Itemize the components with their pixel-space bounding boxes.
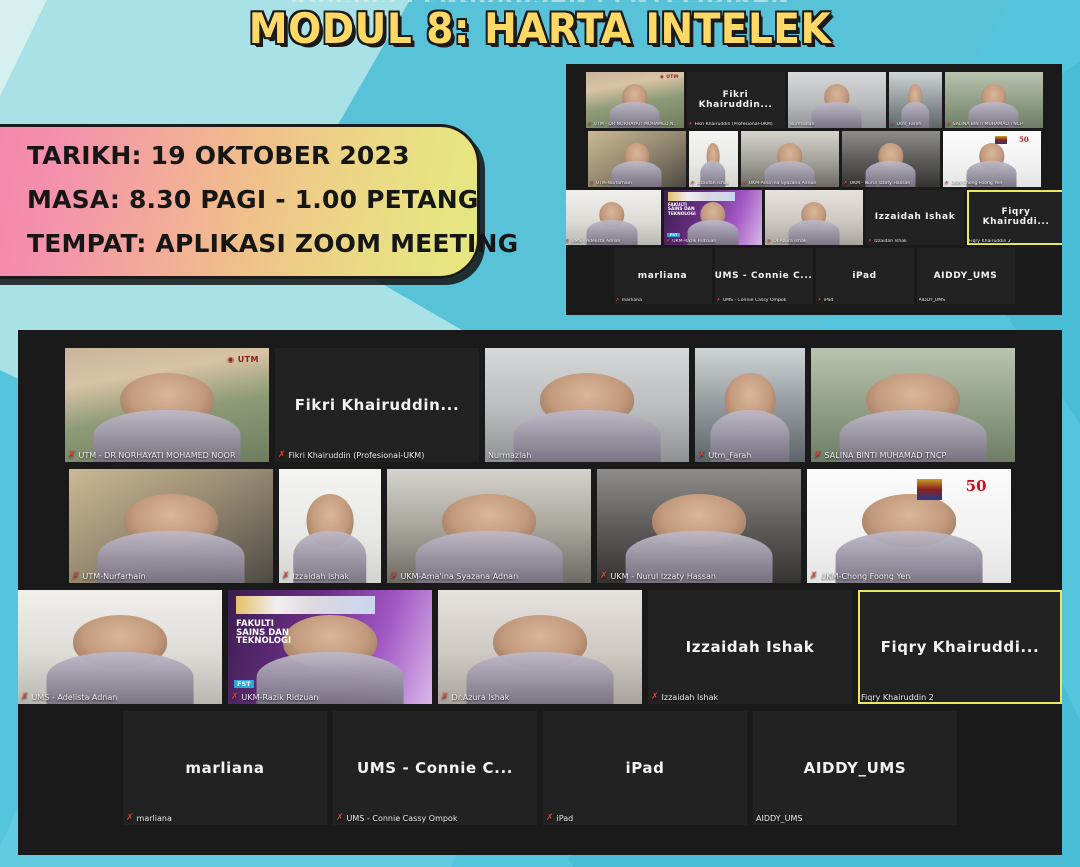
zoom-grid-row: ◉ UTM✗UTM - DR NORHAYATI MOHAMED NOORFik… <box>40 348 1040 462</box>
video-scene <box>588 131 686 187</box>
participant-tile[interactable]: Nurmazlah <box>485 348 689 462</box>
participant-name-text: UTM-Nurfarhain <box>83 572 146 581</box>
faculty-banner-text: FAKULTISAINS DANTEKNOLOGI <box>668 204 696 218</box>
participant-name-badge: ✗Fikri Khairuddin (Profesional-UKM) <box>275 450 428 462</box>
mic-muted-icon: ✗ <box>68 451 76 460</box>
participant-name-badge: ✗Dr.Azura Ishak <box>438 692 513 704</box>
video-scene: 50 <box>807 469 1011 583</box>
ukm-crest-icon <box>917 479 941 500</box>
video-scene <box>69 469 273 583</box>
mic-muted-icon: ✗ <box>126 814 134 823</box>
participant-name-text: UTM - DR NORHAYATI MOHAMED NOOR <box>594 122 682 127</box>
participant-video <box>945 72 1043 128</box>
participant-center-name: iPad <box>816 248 914 304</box>
mic-muted-icon: ✗ <box>814 451 822 460</box>
zoom-gallery-window-small: ◉ UTM✗UTM - DR NORHAYATI MOHAMED NOORFik… <box>566 64 1062 315</box>
video-scene <box>438 590 642 704</box>
mic-muted-icon: ✗ <box>278 451 286 460</box>
person-shoulders <box>811 102 862 128</box>
participant-tile[interactable]: ✗Izzaidah Ishak <box>689 131 738 187</box>
mic-muted-icon: ✗ <box>891 122 895 127</box>
video-scene <box>788 72 886 128</box>
participant-tile[interactable]: 50✗UKM-Chong Foong Yen <box>943 131 1041 187</box>
participant-tile[interactable]: iPad✗iPad <box>543 711 747 825</box>
participant-name-badge: ✗marliana <box>614 298 644 304</box>
mic-muted-icon: ✗ <box>441 693 449 702</box>
participant-name-text: Izzaidah Ishak <box>874 239 907 244</box>
video-scene <box>597 469 801 583</box>
video-scene <box>765 190 863 246</box>
participant-tile[interactable]: Izzaidah Ishak✗Izzaidah Ishak <box>648 590 852 704</box>
participant-name-text: UKM-Ama'ina Syazana Adnan <box>401 572 519 581</box>
mic-muted-icon: ✗ <box>689 122 693 127</box>
participant-tile[interactable]: Nurmazlah <box>788 72 886 128</box>
ukm-50th-anniversary-icon: 50 <box>966 477 987 495</box>
ukm-crest-icon <box>995 136 1007 144</box>
mic-muted-icon: ✗ <box>282 572 290 581</box>
participant-tile[interactable]: ✗Utm_Farah <box>695 348 805 462</box>
participant-center-name: iPad <box>543 711 747 825</box>
participant-center-name: Fikri Khairuddin... <box>275 348 479 462</box>
participant-video: ◉ UTM <box>65 348 269 462</box>
mic-muted-icon: ✗ <box>698 451 706 460</box>
participant-tile[interactable]: ✗Utm_Farah <box>889 72 942 128</box>
participant-name-text: Fiqry Khairuddin 2 <box>969 239 1011 244</box>
event-details-card: TARIKH: 19 OKTOBER 2023 MASA: 8.30 PAGI … <box>0 124 480 279</box>
participant-center-name: Fiqry Khairuddi... <box>858 590 1062 704</box>
participant-tile[interactable]: ◉ UTM✗UTM - DR NORHAYATI MOHAMED NOOR <box>586 72 684 128</box>
participant-name-badge: ✗UMS - Connie Cassy Ompok <box>333 813 461 825</box>
participant-video: 50 <box>807 469 1011 583</box>
zoom-grid-row: ✗UMS - Adelista AdnanFAKULTISAINS DANTEK… <box>40 590 1040 704</box>
participant-video <box>741 131 839 187</box>
participant-name-badge: ✗UTM - DR NORHAYATI MOHAMED NOOR <box>65 450 240 462</box>
mic-muted-icon: ✗ <box>546 814 554 823</box>
participant-name-text: Fikri Khairuddin (Profesional-UKM) <box>695 122 773 127</box>
participant-video: FAKULTISAINS DANTEKNOLOGIFST <box>228 590 432 704</box>
participant-video <box>689 131 738 187</box>
participant-tile[interactable]: UMS - Connie C...✗UMS - Connie Cassy Omp… <box>333 711 537 825</box>
participant-name-text: AIDDY_UMS <box>919 298 946 303</box>
utm-logo-icon: ◉ UTM <box>660 75 679 80</box>
participant-name-text: UMS - Connie Cassy Ompok <box>347 814 458 823</box>
person-shoulders <box>514 410 661 462</box>
participant-tile[interactable]: Fiqry Khairuddi...Fiqry Khairuddin 2 <box>858 590 1062 704</box>
faculty-banner-logos <box>236 596 375 614</box>
video-scene: ◉ UTM <box>586 72 684 128</box>
participant-center-name: marliana <box>614 248 712 304</box>
page-title: MODUL 8: HARTA INTELEK <box>38 6 1042 52</box>
mic-muted-icon: ✗ <box>767 239 771 244</box>
participant-name-badge: ✗UKM-Ama'ina Syazana Adnan <box>741 181 819 187</box>
mic-muted-icon: ✗ <box>616 298 620 303</box>
poster-canvas: KURSUS PENGURUSAN PENYELIDIKAN MODUL 8: … <box>0 0 1080 867</box>
participant-video <box>811 348 1015 462</box>
participant-tile[interactable]: Izzaidah Ishak✗Izzaidah Ishak <box>866 190 964 246</box>
participant-name-text: Izzaidah Ishak <box>697 181 730 186</box>
participant-name-text: Fikri Khairuddin (Profesional-UKM) <box>289 451 425 460</box>
participant-name-badge: ✗Izzaidah Ishak <box>648 692 722 704</box>
participant-name-badge: ✗Izzaidah Ishak <box>689 181 732 187</box>
faculty-banner-logos <box>668 192 735 201</box>
video-scene: 50 <box>943 131 1041 187</box>
mic-muted-icon: ✗ <box>810 572 818 581</box>
participant-tile[interactable]: marliana✗marliana <box>123 711 327 825</box>
participant-video <box>588 131 686 187</box>
participant-name-text: UKM-Chong Foong Yen <box>951 181 1003 186</box>
participant-name-text: UKM-Chong Foong Yen <box>821 572 911 581</box>
participant-video <box>69 469 273 583</box>
faculty-tag: FST <box>234 680 254 688</box>
participant-tile[interactable]: iPad✗iPad <box>816 248 914 304</box>
participant-video <box>438 590 642 704</box>
participant-name-text: UMS - Adelista Adnan <box>32 693 118 702</box>
video-scene <box>741 131 839 187</box>
participant-name-badge: AIDDY_UMS <box>753 813 806 825</box>
participant-video <box>387 469 591 583</box>
participant-name-badge: ✗UKM-Razik Ridzuan <box>664 239 718 245</box>
participant-name-badge: ✗UTM - DR NORHAYATI MOHAMED NOOR <box>586 122 684 128</box>
participant-center-name: UMS - Connie C... <box>333 711 537 825</box>
ukm-50th-anniversary-icon: 50 <box>1019 135 1029 144</box>
participant-tile[interactable]: UMS - Connie C...✗UMS - Connie Cassy Omp… <box>715 248 813 304</box>
video-scene <box>842 131 940 187</box>
participant-name-badge: ✗UKM-Chong Foong Yen <box>943 181 1005 187</box>
mic-muted-icon: ✗ <box>566 239 569 244</box>
video-scene: FAKULTISAINS DANTEKNOLOGIFST <box>228 590 432 704</box>
zoom-grid-row: ✗UTM-Nurfarhain✗Izzaidah Ishak✗UKM-Ama'i… <box>40 469 1040 583</box>
video-scene <box>279 469 381 583</box>
participant-name-badge: ✗UKM-Ama'ina Syazana Adnan <box>387 571 522 583</box>
participant-name-text: Dr.Azura Ishak <box>773 239 806 244</box>
event-venue-line: TEMPAT: APLIKASI ZOOM MEETING <box>27 222 451 266</box>
mic-muted-icon: ✗ <box>588 122 592 127</box>
video-scene <box>811 348 1015 462</box>
participant-tile[interactable]: FAKULTISAINS DANTEKNOLOGIFST✗UKM-Razik R… <box>664 190 762 246</box>
participant-name-badge: ✗iPad <box>816 298 836 304</box>
participant-video <box>18 590 222 704</box>
participant-name-text: UTM - DR NORHAYATI MOHAMED NOOR <box>79 451 236 460</box>
participant-center-name: Izzaidah Ishak <box>866 190 964 246</box>
zoom-grid-row: marliana✗marlianaUMS - Connie C...✗UMS -… <box>576 248 1052 304</box>
participant-tile[interactable]: ✗UKM - Nurul Izzaty Hassan <box>842 131 940 187</box>
participant-name-text: AIDDY_UMS <box>756 814 802 823</box>
mic-muted-icon: ✗ <box>818 298 822 303</box>
participant-name-badge: ✗Izzaidah Ishak <box>279 571 353 583</box>
participant-name-text: SALINA BINTI MUHAMAD TNCP <box>953 122 1023 127</box>
participant-center-name: AIDDY_UMS <box>917 248 1015 304</box>
participant-video <box>765 190 863 246</box>
participant-name-badge: Fiqry Khairuddin 2 <box>967 239 1013 245</box>
event-date-line: TARIKH: 19 OKTOBER 2023 <box>27 134 451 178</box>
participant-name-text: iPad <box>824 298 834 303</box>
participant-name-badge: ✗UMS - Adelista Adnan <box>18 692 121 704</box>
participant-name-text: UMS - Connie Cassy Ompok <box>723 298 787 303</box>
participant-name-badge: ✗UKM-Razik Ridzuan <box>228 692 322 704</box>
mic-muted-icon: ✗ <box>231 693 239 702</box>
faculty-tag: FST <box>667 233 681 237</box>
participant-name-text: UKM-Ama'ina Syazana Adnan <box>749 181 817 186</box>
mic-muted-icon: ✗ <box>72 572 80 581</box>
mic-muted-icon: ✗ <box>717 298 721 303</box>
cropped-header-text: KURSUS PENGURUSAN PENYELIDIKAN <box>0 0 1080 2</box>
video-scene: ◉ UTM <box>65 348 269 462</box>
participant-name-text: SALINA BINTI MUHAMAD TNCP <box>825 451 947 460</box>
participant-name-text: Izzaidah Ishak <box>662 693 719 702</box>
participant-name-badge: ✗Dr.Azura Ishak <box>765 239 808 245</box>
participant-name-badge: ✗Utm_Farah <box>695 450 755 462</box>
video-scene <box>485 348 689 462</box>
participant-tile[interactable]: Fikri Khairuddin...✗Fikri Khairuddin (Pr… <box>687 72 785 128</box>
participant-name-text: Utm_Farah <box>709 451 752 460</box>
video-scene <box>889 72 942 128</box>
participant-tile[interactable]: ✗UMS - Adelista Adnan <box>566 190 661 246</box>
participant-name-text: UKM - Nurul Izzaty Hassan <box>611 572 716 581</box>
participant-name-text: Utm_Farah <box>897 122 922 127</box>
mic-muted-icon: ✗ <box>868 239 872 244</box>
mic-muted-icon: ✗ <box>691 181 695 186</box>
participant-name-text: marliana <box>137 814 172 823</box>
video-scene <box>695 348 805 462</box>
participant-tile[interactable]: ✗Izzaidah Ishak <box>279 469 381 583</box>
participant-tile[interactable]: ✗UKM-Ama'ina Syazana Adnan <box>741 131 839 187</box>
participant-tile[interactable]: ✗SALINA BINTI MUHAMAD TNCP <box>945 72 1043 128</box>
participant-name-badge: ✗UMS - Adelista Adnan <box>566 239 622 245</box>
video-scene <box>387 469 591 583</box>
participant-tile[interactable]: ✗UKM - Nurul Izzaty Hassan <box>597 469 801 583</box>
participant-name-badge: ✗SALINA BINTI MUHAMAD TNCP <box>811 450 950 462</box>
participant-name-badge: Nurmazlah <box>485 450 535 462</box>
participant-name-text: iPad <box>557 814 574 823</box>
participant-center-name: AIDDY_UMS <box>753 711 957 825</box>
faculty-banner-text: FAKULTISAINS DANTEKNOLOGI <box>236 620 291 647</box>
participant-tile[interactable]: ✗UKM-Ama'ina Syazana Adnan <box>387 469 591 583</box>
participant-video <box>842 131 940 187</box>
mic-muted-icon: ✗ <box>844 181 848 186</box>
participant-tile[interactable]: marliana✗marliana <box>614 248 712 304</box>
participant-name-badge: ✗Utm_Farah <box>889 122 924 128</box>
participant-name-text: UKM - Nurul Izzaty Hassan <box>850 181 911 186</box>
participant-tile[interactable]: AIDDY_UMSAIDDY_UMS <box>917 248 1015 304</box>
participant-tile[interactable]: ✗SALINA BINTI MUHAMAD TNCP <box>811 348 1015 462</box>
mic-muted-icon: ✗ <box>947 122 951 127</box>
participant-tile[interactable]: ✗Dr.Azura Ishak <box>438 590 642 704</box>
participant-tile[interactable]: ◉ UTM✗UTM - DR NORHAYATI MOHAMED NOOR <box>65 348 269 462</box>
participant-center-name: UMS - Connie C... <box>715 248 813 304</box>
participant-name-badge: Nurmazlah <box>788 122 817 128</box>
participant-name-badge: AIDDY_UMS <box>917 298 948 304</box>
participant-name-badge: ✗UTM-Nurfarhain <box>588 181 634 187</box>
participant-video <box>695 348 805 462</box>
participant-tile[interactable]: Fikri Khairuddin...✗Fikri Khairuddin (Pr… <box>275 348 479 462</box>
mic-muted-icon: ✗ <box>21 693 29 702</box>
event-time-line: MASA: 8.30 PAGI - 1.00 PETANG <box>27 178 451 222</box>
participant-name-badge: Fiqry Khairuddin 2 <box>858 692 938 704</box>
mic-muted-icon: ✗ <box>390 572 398 581</box>
zoom-grid-row: ◉ UTM✗UTM - DR NORHAYATI MOHAMED NOORFik… <box>576 72 1052 128</box>
participant-tile[interactable]: AIDDY_UMSAIDDY_UMS <box>753 711 957 825</box>
participant-name-text: UTM-Nurfarhain <box>596 181 632 186</box>
participant-name-text: Nurmazlah <box>790 122 815 127</box>
zoom-grid-row: marliana✗marlianaUMS - Connie C...✗UMS -… <box>40 711 1040 825</box>
participant-video <box>279 469 381 583</box>
participant-name-badge: ✗SALINA BINTI MUHAMAD TNCP <box>945 122 1025 128</box>
zoom-grid-large: ◉ UTM✗UTM - DR NORHAYATI MOHAMED NOORFik… <box>40 348 1040 837</box>
participant-name-badge: ✗marliana <box>123 813 176 825</box>
video-scene <box>566 190 661 246</box>
participant-center-name: Fiqry Khairuddi... <box>967 190 1062 246</box>
participant-name-badge: ✗UTM-Nurfarhain <box>69 571 150 583</box>
participant-center-name: Fikri Khairuddin... <box>687 72 785 128</box>
participant-video <box>566 190 661 246</box>
mic-muted-icon: ✗ <box>743 181 747 186</box>
participant-name-badge: ✗UMS - Connie Cassy Ompok <box>715 298 789 304</box>
participant-center-name: marliana <box>123 711 327 825</box>
participant-name-text: Izzaidah Ishak <box>293 572 350 581</box>
participant-name-badge: ✗iPad <box>543 813 577 825</box>
participant-name-text: UKM-Razik Ridzuan <box>672 239 716 244</box>
participant-video <box>788 72 886 128</box>
video-scene: FAKULTISAINS DANTEKNOLOGIFST <box>664 190 762 246</box>
participant-tile[interactable]: ✗UMS - Adelista Adnan <box>18 590 222 704</box>
participant-tile[interactable]: 50✗UKM-Chong Foong Yen <box>807 469 1011 583</box>
participant-video: 50 <box>943 131 1041 187</box>
participant-name-badge: ✗UKM - Nurul Izzaty Hassan <box>597 571 720 583</box>
participant-video <box>889 72 942 128</box>
participant-tile[interactable]: ✗Dr.Azura Ishak <box>765 190 863 246</box>
participant-video: FAKULTISAINS DANTEKNOLOGIFST <box>664 190 762 246</box>
participant-tile[interactable]: Fiqry Khairuddi...Fiqry Khairuddin 2 <box>967 190 1062 246</box>
mic-muted-icon: ✗ <box>336 814 344 823</box>
participant-name-text: Dr.Azura Ishak <box>452 693 510 702</box>
video-scene <box>689 131 738 187</box>
mic-muted-icon: ✗ <box>600 572 608 581</box>
participant-name-badge: ✗Fikri Khairuddin (Profesional-UKM) <box>687 122 775 128</box>
video-scene <box>945 72 1043 128</box>
utm-logo-icon: ◉ UTM <box>227 355 259 364</box>
participant-video <box>597 469 801 583</box>
participant-name-text: UMS - Adelista Adnan <box>571 239 620 244</box>
participant-tile[interactable]: ✗UTM-Nurfarhain <box>588 131 686 187</box>
participant-name-text: Fiqry Khairuddin 2 <box>861 693 934 702</box>
participant-video: ◉ UTM <box>586 72 684 128</box>
participant-tile[interactable]: FAKULTISAINS DANTEKNOLOGIFST✗UKM-Razik R… <box>228 590 432 704</box>
mic-muted-icon: ✗ <box>590 181 594 186</box>
participant-name-badge: ✗UKM-Chong Foong Yen <box>807 571 914 583</box>
mic-muted-icon: ✗ <box>666 239 670 244</box>
participant-tile[interactable]: ✗UTM-Nurfarhain <box>69 469 273 583</box>
participant-video <box>485 348 689 462</box>
zoom-grid-row: ✗UTM-Nurfarhain✗Izzaidah Ishak✗UKM-Ama'i… <box>576 131 1052 187</box>
participant-name-badge: ✗UKM - Nurul Izzaty Hassan <box>842 181 913 187</box>
mic-muted-icon: ✗ <box>651 693 659 702</box>
zoom-gallery-window-large: ◉ UTM✗UTM - DR NORHAYATI MOHAMED NOORFik… <box>18 330 1062 855</box>
zoom-grid-row: ✗UMS - Adelista AdnanFAKULTISAINS DANTEK… <box>576 190 1052 246</box>
participant-center-name: Izzaidah Ishak <box>648 590 852 704</box>
participant-name-badge: ✗Izzaidah Ishak <box>866 239 909 245</box>
participant-name-text: marliana <box>622 298 642 303</box>
mic-muted-icon: ✗ <box>945 181 949 186</box>
participant-name-text: Nurmazlah <box>488 451 531 460</box>
video-scene <box>18 590 222 704</box>
zoom-grid-small: ◉ UTM✗UTM - DR NORHAYATI MOHAMED NOORFik… <box>576 72 1052 307</box>
participant-name-text: UKM-Razik Ridzuan <box>242 693 319 702</box>
